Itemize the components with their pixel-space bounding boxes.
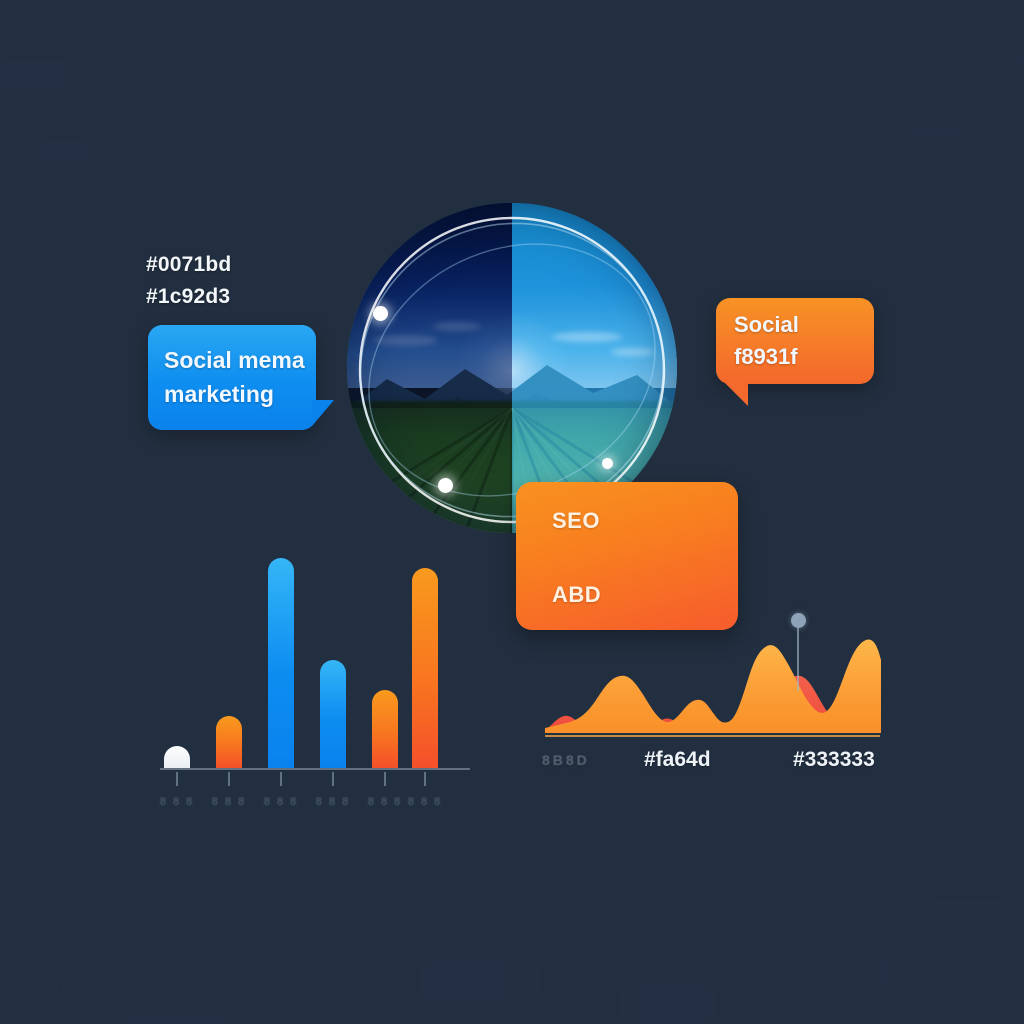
bar-1[interactable] (164, 746, 190, 768)
area-chart-baseline (545, 735, 880, 737)
bar-tick (424, 772, 426, 786)
bar-tick (228, 772, 230, 786)
bar-6[interactable] (412, 568, 438, 768)
bar-tick-label: 8 8 8 (160, 796, 194, 808)
bar-tick (176, 772, 178, 786)
bar-chart: 8 8 8 8 8 8 8 8 8 8 8 8 8 8 8 8 8 8 (150, 540, 480, 810)
area-series-amber (545, 640, 881, 733)
bubble-blue-line1: Social mema (164, 344, 316, 377)
area-marker-dot-icon[interactable] (791, 613, 806, 628)
label-fa64d: #fa64d (644, 748, 711, 772)
bubble-blue-line2: marketing (164, 378, 316, 411)
bar-tick-label: 8 8 8 (264, 796, 298, 808)
label-8b8d: 8B8D (542, 752, 590, 768)
bubble-blue-tail (312, 400, 334, 426)
bar-tick-label: 8 8 8 (316, 796, 350, 808)
area-marker-stem (797, 625, 799, 691)
bar-tick-label: 8 8 8 (368, 796, 402, 808)
orbit-node-icon (373, 306, 388, 321)
seo-card-line1: SEO (552, 508, 738, 534)
area-chart (540, 600, 885, 745)
bar-tick-label: 8 8 8 (408, 796, 442, 808)
bar-3[interactable] (268, 558, 294, 768)
orbit-node-icon (438, 478, 453, 493)
bar-tick (384, 772, 386, 786)
bar-4[interactable] (320, 660, 346, 768)
bar-tick-label: 8 8 8 (212, 796, 246, 808)
bar-5[interactable] (372, 690, 398, 768)
bar-tick (332, 772, 334, 786)
infographic-canvas: #0071bd #1c92d3 (0, 0, 1024, 1024)
speech-bubble-social-media-marketing[interactable]: Social mema marketing (148, 325, 316, 430)
bar-tick (280, 772, 282, 786)
bar-2[interactable] (216, 716, 242, 768)
area-chart-svg (540, 600, 885, 745)
orbit-node-icon (602, 458, 613, 469)
hex-label-blue-light: #1c92d3 (146, 285, 230, 309)
bubble-orange-line2: f8931f (734, 341, 874, 373)
speech-bubble-social[interactable]: Social f8931f (716, 298, 874, 384)
bubble-orange-line1: Social (734, 309, 874, 341)
bar-chart-axis (160, 768, 470, 770)
hex-label-blue-primary: #0071bd (146, 253, 231, 277)
label-333333: #333333 (793, 748, 875, 772)
bubble-orange-tail (724, 382, 748, 406)
